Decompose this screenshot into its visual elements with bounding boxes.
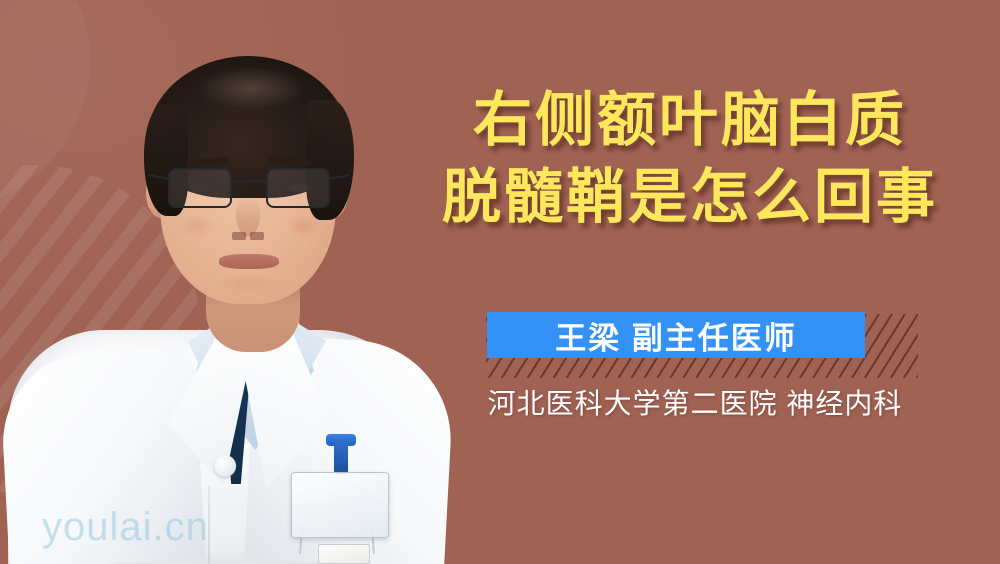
doctor-portrait: 河北医科大学第二医院 THE SECOND HOSPITAL OF HEBEI …: [0, 0, 460, 564]
cheek-right: [286, 214, 320, 238]
mouth: [219, 254, 279, 269]
eyeglass-lens-right: [266, 168, 330, 208]
page-title: 右侧额叶脑白质 脱髓鞘是怎么回事: [410, 82, 970, 235]
cheek-left: [180, 214, 214, 238]
credential-area: 王梁 副主任医师: [460, 310, 930, 380]
eyeglass-bridge: [232, 180, 266, 183]
badge-lower-tag: [318, 544, 370, 564]
lab-coat-button: [214, 455, 236, 477]
speaker-name-title: 王梁 副主任医师: [555, 313, 797, 358]
site-watermark: youlai.cn: [42, 505, 209, 550]
chin: [212, 276, 284, 298]
eyeglass-lens-left: [168, 168, 232, 208]
title-line-2: 脱髓鞘是怎么回事: [410, 159, 970, 236]
title-line-1: 右侧额叶脑白质: [410, 82, 970, 159]
nostrils: [232, 232, 264, 240]
badge-sleeve: 河北医科大学第二医院 THE SECOND HOSPITAL OF HEBEI …: [291, 472, 389, 538]
video-thumbnail: 河北医科大学第二医院 THE SECOND HOSPITAL OF HEBEI …: [0, 0, 1000, 564]
nose: [236, 196, 260, 236]
badge-clip-icon: [334, 440, 348, 474]
speaker-name-badge: 王梁 副主任医师: [487, 312, 865, 358]
speaker-affiliation: 河北医科大学第二医院 神经内科: [460, 382, 930, 422]
hair-highlight: [196, 66, 306, 110]
